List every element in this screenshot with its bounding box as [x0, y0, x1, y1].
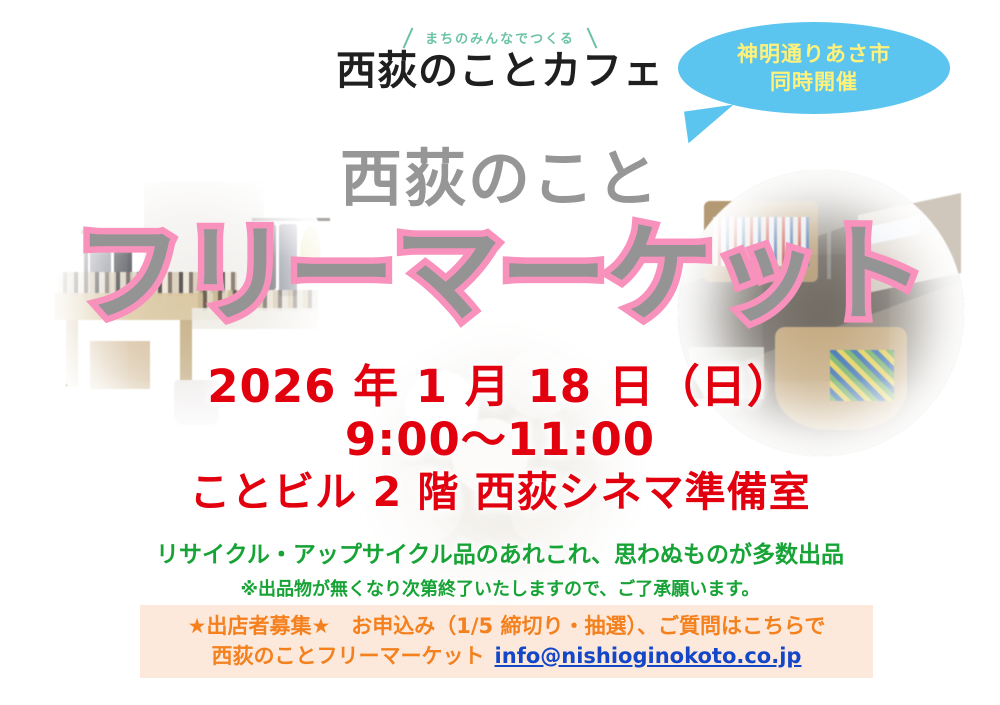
speech-bubble-line-1: 神明通りあさ市: [737, 40, 891, 68]
vendor-recruitment-text: ★出店者募集★ お申込み（1/5 締切り・抽選）、ご質問はこちらで: [188, 612, 826, 641]
event-details: 2026 年 1 月 18 日（日） 9:00〜11:00 ことビル 2 階 西…: [0, 360, 1000, 519]
note-items-description: リサイクル・アップサイクル品のあれこれ、思わぬものが多数出品: [0, 535, 1000, 569]
headline-subtitle: 西荻のこと: [0, 128, 1000, 218]
contact-banner: ★出店者募集★ お申込み（1/5 締切り・抽選）、ご質問はこちらで 西荻のことフ…: [140, 605, 873, 678]
logo-tagline-wrap: まちのみんなでつくる: [425, 28, 575, 47]
flea-market-poster: まちのみんなでつくる 西荻のことカフェ 神明通りあさ市 同時開催 西荻のこと フ…: [0, 0, 1000, 705]
slash-left-icon: [403, 28, 414, 49]
speech-bubble-simultaneous-event: 神明通りあさ市 同時開催: [678, 22, 950, 114]
slash-right-icon: [586, 28, 597, 49]
contact-line-2: 西荻のことフリーマーケットinfo@nishioginokoto.co.jp: [212, 642, 802, 671]
contact-email-link[interactable]: info@nishioginokoto.co.jp: [495, 644, 802, 668]
speech-bubble-line-2: 同時開催: [770, 68, 858, 96]
event-time: 9:00〜11:00: [0, 413, 1000, 466]
contact-organizer-label: 西荻のことフリーマーケット: [212, 644, 485, 668]
event-date: 2026 年 1 月 18 日（日）: [0, 360, 1000, 413]
headline-title: フリーマーケット: [0, 216, 1000, 336]
event-venue: ことビル 2 階 西荻シネマ準備室: [0, 466, 1000, 518]
note-disclaimer: ※出品物が無くなり次第終了いたしますので、ご了承願います。: [0, 575, 1000, 601]
event-notes: リサイクル・アップサイクル品のあれこれ、思わぬものが多数出品 ※出品物が無くなり…: [0, 535, 1000, 601]
logo-tagline-text: まちのみんなでつくる: [425, 32, 575, 47]
